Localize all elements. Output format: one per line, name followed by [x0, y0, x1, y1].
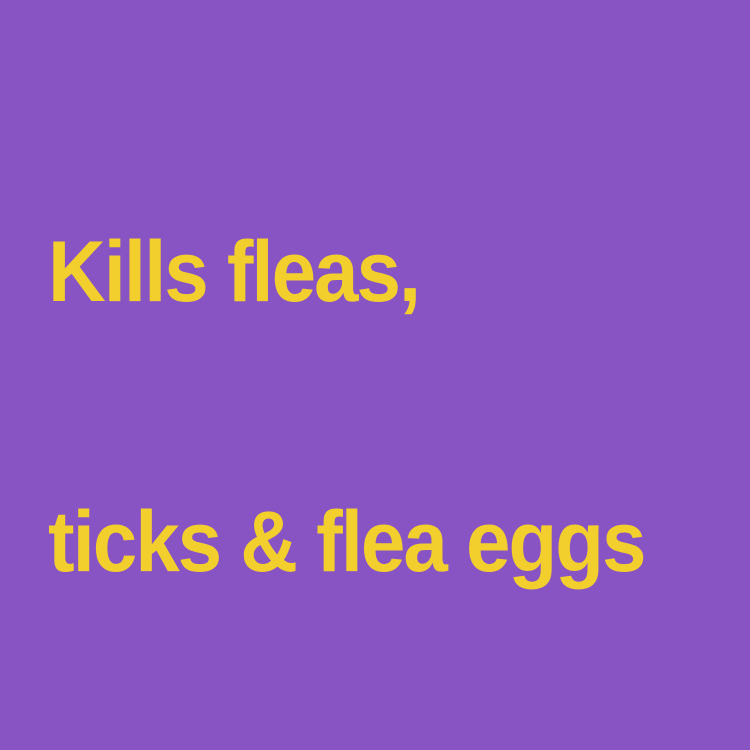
- headline-line-2: ticks & flea eggs: [48, 497, 648, 587]
- page-title: Kills fleas, ticks & flea eggs: [48, 47, 648, 750]
- product-benefits-card: Kills fleas, ticks & flea eggs • Kills f…: [0, 0, 750, 750]
- headline-line-1: Kills fleas,: [48, 227, 648, 317]
- headline-top-spacer: [48, 0, 693, 47]
- card-content: Kills fleas, ticks & flea eggs • Kills f…: [48, 0, 693, 750]
